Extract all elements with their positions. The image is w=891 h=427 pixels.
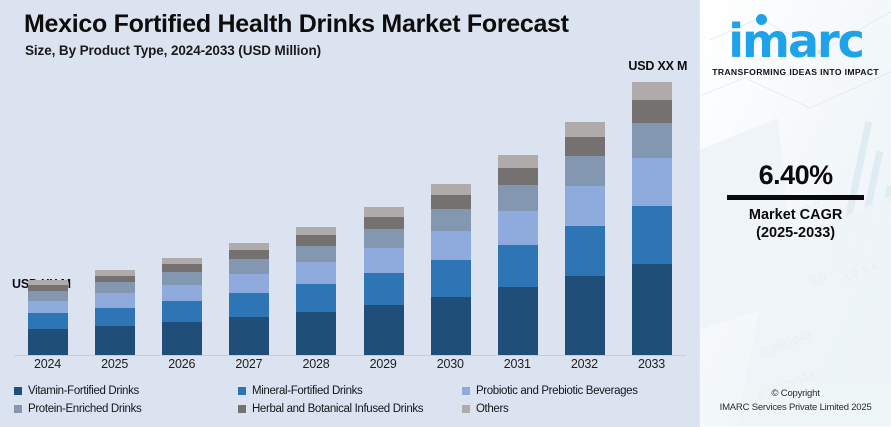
bar-segment (498, 155, 538, 168)
bar-segment (431, 209, 471, 231)
bar-segment (162, 285, 202, 301)
bar-segment (229, 317, 269, 355)
chart-legend: Vitamin-Fortified DrinksMineral-Fortifie… (14, 385, 686, 421)
legend-swatch-icon (238, 387, 246, 395)
x-axis-line (14, 355, 686, 356)
imarc-logo: imarc TRANSFORMING IDEAS INTO IMPACT (700, 18, 891, 77)
bar-segment (296, 262, 336, 284)
stacked-bar[interactable] (28, 280, 68, 355)
x-tick-2024: 2024 (14, 357, 81, 379)
bar-segment (498, 168, 538, 185)
legend-label: Probiotic and Prebiotic Beverages (476, 385, 638, 397)
bar-segment (565, 226, 605, 276)
bar-segment (95, 326, 135, 355)
bar-segment (364, 305, 404, 355)
bar-column-2033 (619, 75, 686, 355)
legend-label: Protein-Enriched Drinks (28, 403, 141, 415)
brand-panel: 500.0 0.0 1 2 3 4 0.0982048 0.15178514 i… (699, 0, 891, 427)
bar-segment (364, 207, 404, 216)
bar-segment (431, 184, 471, 195)
legend-swatch-icon (462, 387, 470, 395)
x-tick-2033: 2033 (618, 357, 685, 379)
legend-item[interactable]: Probiotic and Prebiotic Beverages (462, 385, 686, 397)
bar-segment (296, 312, 336, 355)
stacked-bar[interactable] (565, 122, 605, 355)
bar-segment (229, 259, 269, 273)
legend-item[interactable]: Herbal and Botanical Infused Drinks (238, 403, 462, 415)
bar-segment (229, 243, 269, 250)
x-tick-2028: 2028 (282, 357, 349, 379)
bar-segment (95, 293, 135, 307)
legend-label: Others (476, 403, 508, 415)
stacked-bar[interactable] (95, 270, 135, 355)
x-tick-2031: 2031 (484, 357, 551, 379)
stacked-bar[interactable] (632, 82, 672, 355)
bar-segment (95, 282, 135, 293)
bar-segment (162, 272, 202, 284)
bar-column-2027 (216, 75, 283, 355)
bar-segment (431, 195, 471, 209)
bar-segment (296, 284, 336, 312)
copyright-line-1: © Copyright (700, 387, 891, 401)
x-tick-2025: 2025 (81, 357, 148, 379)
bar-segment (296, 246, 336, 262)
bar-segment (95, 308, 135, 326)
bar-segment (632, 206, 672, 264)
cagr-divider (727, 195, 864, 200)
cagr-label: Market CAGR (700, 207, 891, 223)
bar-group (14, 75, 686, 355)
legend-label: Vitamin-Fortified Drinks (28, 385, 139, 397)
bar-segment (565, 276, 605, 355)
bar-segment (296, 227, 336, 235)
bar-segment (162, 264, 202, 272)
bar-column-2030 (417, 75, 484, 355)
legend-swatch-icon (238, 405, 246, 413)
bar-segment (28, 313, 68, 329)
bar-segment (229, 250, 269, 259)
bar-segment (162, 301, 202, 322)
cagr-block: 6.40% Market CAGR (2025-2033) (700, 160, 891, 241)
chart-screenshot: Mexico Fortified Health Drinks Market Fo… (0, 0, 891, 427)
cagr-period: (2025-2033) (700, 225, 891, 241)
plot-area (0, 75, 700, 356)
bar-segment (364, 248, 404, 273)
stacked-bar[interactable] (431, 184, 471, 355)
bar-segment (364, 229, 404, 248)
bar-segment (632, 123, 672, 158)
stacked-bar[interactable] (296, 227, 336, 355)
bar-column-2031 (484, 75, 551, 355)
bar-segment (28, 291, 68, 300)
bar-segment (431, 231, 471, 260)
bar-segment (632, 100, 672, 123)
bar-column-2026 (148, 75, 215, 355)
bar-segment (632, 82, 672, 100)
bar-segment (431, 260, 471, 297)
legend-item[interactable]: Vitamin-Fortified Drinks (14, 385, 238, 397)
legend-item[interactable]: Mineral-Fortified Drinks (238, 385, 462, 397)
bar-segment (565, 186, 605, 226)
stacked-bar[interactable] (498, 155, 538, 355)
bar-segment (28, 301, 68, 313)
legend-swatch-icon (462, 405, 470, 413)
page-title: Mexico Fortified Health Drinks Market Fo… (24, 10, 569, 39)
bar-segment (498, 185, 538, 211)
bar-segment (229, 293, 269, 317)
bar-segment (296, 235, 336, 246)
bar-column-2028 (283, 75, 350, 355)
bar-segment (364, 273, 404, 305)
page-subtitle: Size, By Product Type, 2024-2033 (USD Mi… (25, 43, 321, 58)
logo-tagline: TRANSFORMING IDEAS INTO IMPACT (700, 67, 891, 77)
bar-segment (565, 137, 605, 157)
copyright-line-2: IMARC Services Private Limited 2025 (700, 401, 891, 415)
bar-column-2025 (81, 75, 148, 355)
stacked-bar[interactable] (364, 207, 404, 355)
bar-segment (498, 245, 538, 288)
bar-segment (229, 274, 269, 293)
bar-segment (364, 217, 404, 229)
legend-item[interactable]: Protein-Enriched Drinks (14, 403, 238, 415)
bar-segment (431, 297, 471, 355)
x-tick-2026: 2026 (148, 357, 215, 379)
legend-label: Herbal and Botanical Infused Drinks (252, 403, 423, 415)
bar-segment (632, 158, 672, 205)
bar-column-2024 (14, 75, 81, 355)
stacked-bar[interactable] (229, 243, 269, 355)
bar-segment (95, 276, 135, 283)
bar-segment (498, 211, 538, 245)
bar-column-2032 (552, 75, 619, 355)
legend-label: Mineral-Fortified Drinks (252, 385, 362, 397)
x-axis-tick-labels: 2024202520262027202820292030203120322033 (14, 357, 685, 379)
logo-wordmark: imarc (728, 18, 863, 64)
bar-segment (28, 329, 68, 355)
bar-segment (162, 322, 202, 355)
bar-column-2029 (350, 75, 417, 355)
legend-swatch-icon (14, 387, 22, 395)
copyright-notice: © Copyright IMARC Services Private Limit… (700, 387, 891, 415)
legend-swatch-icon (14, 405, 22, 413)
bar-segment (498, 287, 538, 355)
x-tick-2027: 2027 (215, 357, 282, 379)
bar-segment (632, 264, 672, 355)
value-note-right: USD XX M (628, 59, 687, 73)
chart-panel: Mexico Fortified Health Drinks Market Fo… (0, 0, 699, 427)
bar-segment (565, 122, 605, 137)
x-tick-2032: 2032 (551, 357, 618, 379)
legend-item[interactable]: Others (462, 403, 686, 415)
x-tick-2029: 2029 (350, 357, 417, 379)
cagr-value: 6.40% (700, 160, 891, 191)
bar-segment (565, 156, 605, 186)
stacked-bar[interactable] (162, 258, 202, 355)
x-tick-2030: 2030 (417, 357, 484, 379)
